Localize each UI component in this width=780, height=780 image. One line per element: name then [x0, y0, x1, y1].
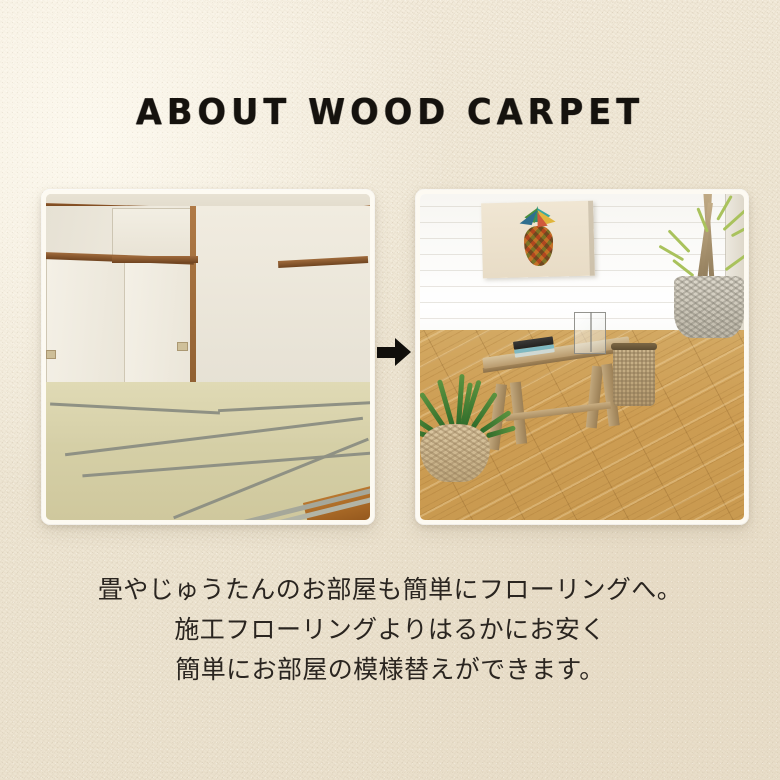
frond [731, 222, 744, 238]
pineapple-icon [514, 205, 562, 269]
glass-terrarium [574, 312, 606, 354]
transom-panel [112, 208, 192, 258]
wood-rail-middle [112, 256, 198, 263]
pineapple-leaves-icon [514, 205, 561, 230]
woven-basket-pot-tall [674, 276, 744, 338]
door-handle-secondary [46, 350, 56, 359]
potted-plant-right [658, 194, 744, 338]
right-arrow-icon [377, 338, 411, 366]
promo-banner: ABOUT WOOD CARPET [0, 0, 780, 780]
photo-before-frame[interactable] [42, 190, 374, 524]
photo-after-frame[interactable] [416, 190, 748, 524]
potted-plant-left [420, 372, 502, 482]
frond [722, 209, 744, 231]
caption-block: 畳やじゅうたんのお部屋も簡単にフローリングへ。 施工フローリングよりはるかにお安… [0, 570, 780, 690]
frond [668, 229, 691, 253]
woven-basket-small [613, 346, 655, 406]
pineapple-body [524, 226, 554, 267]
photo-after-wood-floor-room [420, 194, 744, 520]
photo-before-tatami-room [46, 194, 370, 520]
frond [716, 195, 733, 221]
woven-basket-rim [611, 343, 657, 350]
arrow-head [395, 338, 411, 366]
caption-line-1: 畳やじゅうたんのお部屋も簡単にフローリングへ。 [0, 570, 780, 610]
frond [725, 254, 744, 272]
bench-leg [586, 366, 603, 429]
caption-line-2: 施工フローリングよりはるかにお安く [0, 610, 780, 650]
arrow-shaft [377, 347, 397, 358]
page-title: ABOUT WOOD CARPET [27, 92, 752, 133]
frond [672, 259, 694, 277]
wooden-bench [483, 342, 631, 452]
caption-line-3: 簡単にお部屋の模様替えができます。 [0, 650, 780, 690]
frond [659, 245, 685, 262]
woven-basket-pot [420, 424, 490, 482]
pineapple-artwork [481, 201, 595, 279]
door-handle [177, 342, 188, 351]
